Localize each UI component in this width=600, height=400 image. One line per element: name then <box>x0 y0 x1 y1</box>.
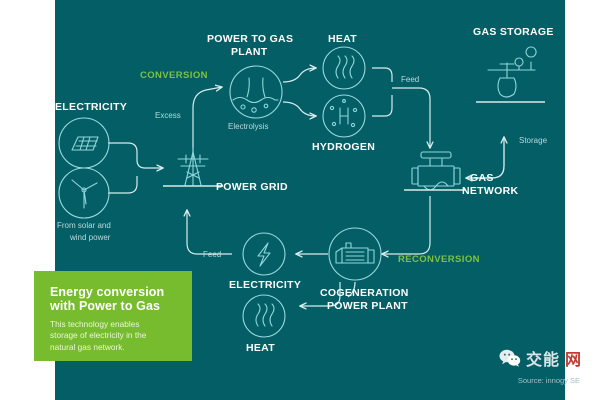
hydrogen-molecule-icon <box>323 95 365 137</box>
callout-box: Energy conversion with Power to Gas This… <box>34 271 192 361</box>
node-electricity-output[interactable]: ELECTRICITY <box>229 233 301 291</box>
callout-body-line-2: storage of electricity in the <box>50 330 178 341</box>
reconversion-label: RECONVERSION <box>398 254 480 265</box>
gas-network-label-1: GAS <box>470 172 494 184</box>
callout-body: This technology enables storage of elect… <box>50 319 178 353</box>
callout-title-line-2: with Power to Gas <box>50 299 178 313</box>
hydrogen-label: HYDROGEN <box>312 141 375 153</box>
cogeneration-label-2: POWER PLANT <box>327 300 408 312</box>
source-credit: Source: innogy SE <box>518 376 580 385</box>
connector-excess-grid-to-plant <box>193 87 222 160</box>
node-cogeneration-plant[interactable]: COGENERATION POWER PLANT <box>320 228 409 312</box>
watermark: 交能 网 <box>499 346 582 370</box>
wechat-icon <box>499 349 521 367</box>
lightning-bolt-icon <box>243 233 285 275</box>
gas-storage-label: GAS STORAGE <box>473 26 554 38</box>
watermark-text-1: 交能 <box>526 346 560 370</box>
conversion-label: CONVERSION <box>140 70 208 81</box>
callout-body-line-3: natural gas network. <box>50 342 178 353</box>
node-hydrogen[interactable]: HYDROGEN <box>312 95 375 153</box>
electricity-output-label: ELECTRICITY <box>229 279 301 291</box>
power-to-gas-label-2: PLANT <box>231 46 268 58</box>
electricity-source-sublabel-2: wind power <box>69 233 111 242</box>
node-heat-bottom[interactable]: HEAT <box>243 295 285 354</box>
feed-bottom-label: Feed <box>203 250 221 259</box>
connector-network-to-cogeneration <box>382 196 430 254</box>
transmission-tower-icon <box>178 148 208 185</box>
callout-title: Energy conversion with Power to Gas <box>50 285 178 313</box>
heat-waves-icon-bottom <box>243 295 285 337</box>
electrolysis-sublabel: Electrolysis <box>228 122 268 131</box>
electricity-source-label: ELECTRICITY <box>55 101 127 113</box>
electrolysis-icon <box>230 66 282 118</box>
heat-bottom-label: HEAT <box>246 342 275 354</box>
connector-feed-electricity-to-grid <box>187 210 232 254</box>
watermark-text-2: 网 <box>565 346 582 370</box>
node-power-grid[interactable]: POWER GRID <box>163 148 288 193</box>
connector-solar-wind-to-grid <box>108 143 163 193</box>
node-heat-top[interactable]: HEAT <box>323 33 365 89</box>
gas-cavern-icon <box>488 47 536 97</box>
feed-top-label: Feed <box>401 75 419 84</box>
power-to-gas-label-1: POWER TO GAS <box>207 33 293 45</box>
cogeneration-label-1: COGENERATION <box>320 287 409 299</box>
callout-title-line-1: Energy conversion <box>50 285 178 299</box>
excess-label: Excess <box>155 111 181 120</box>
pipeline-valve-icon <box>412 152 460 190</box>
storage-label: Storage <box>519 136 548 145</box>
callout-body-line-1: This technology enables <box>50 319 178 330</box>
infographic-canvas: ELECTRICITY From solar and wind power <box>0 0 600 400</box>
gas-network-label-2: NETWORK <box>462 185 518 197</box>
heat-waves-icon <box>323 47 365 89</box>
node-gas-storage[interactable]: GAS STORAGE <box>473 26 554 102</box>
electricity-source-sublabel-1: From solar and <box>57 221 111 230</box>
power-plant-icon <box>329 228 381 280</box>
power-grid-label: POWER GRID <box>216 181 288 193</box>
node-power-to-gas-plant[interactable]: POWER TO GAS PLANT Electrolysis <box>207 33 293 131</box>
node-electricity-source[interactable]: ELECTRICITY From solar and wind power <box>55 101 127 242</box>
solar-panel-icon <box>59 118 109 168</box>
heat-top-label: HEAT <box>328 33 357 45</box>
wind-turbine-icon <box>59 168 109 218</box>
connector-plant-to-heat-hydrogen <box>283 68 316 116</box>
